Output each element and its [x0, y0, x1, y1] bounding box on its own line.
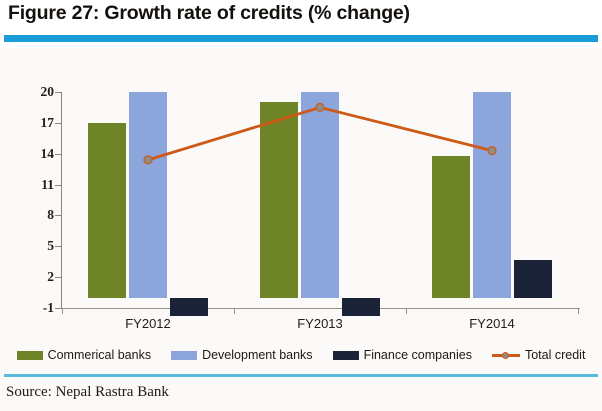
x-axis-tick-mark [234, 308, 235, 314]
legend-item-development-banks[interactable]: Development banks [171, 348, 312, 362]
legend-swatch-icon-development-banks [171, 351, 197, 360]
figure-title: Figure 27: Growth rate of credits (% cha… [8, 2, 410, 25]
x-axis-category-label: FY2013 [297, 316, 343, 331]
total-credit-marker-fy2014 [488, 147, 496, 155]
footer-divider [4, 374, 598, 377]
total-credit-marker-fy2012 [144, 156, 152, 164]
title-block: Figure 27: Growth rate of credits (% cha… [0, 0, 602, 48]
chart-legend: Commerical banks Development banks Finan… [0, 344, 602, 366]
x-axis-category-label: FY2014 [469, 316, 515, 331]
legend-swatch-icon-finance-companies [333, 351, 359, 360]
x-axis-category-label: FY2012 [125, 316, 171, 331]
x-axis-tick-mark [578, 308, 579, 314]
total-credit-line-series [0, 48, 602, 340]
total-credit-polyline [148, 107, 492, 159]
legend-label-development-banks: Development banks [202, 348, 312, 362]
legend-item-commercial-banks[interactable]: Commerical banks [17, 348, 152, 362]
chart-plot-area: 20171411852-1 FY2012FY2013FY2014 [0, 48, 602, 340]
source-note: Source: Nepal Rastra Bank [6, 384, 169, 401]
x-axis-tick-mark [406, 308, 407, 314]
total-credit-markers [144, 103, 496, 163]
title-divider [4, 35, 598, 42]
legend-label-total-credit: Total credit [525, 348, 585, 362]
legend-item-finance-companies[interactable]: Finance companies [333, 348, 472, 362]
total-credit-marker-fy2013 [316, 103, 324, 111]
legend-label-finance-companies: Finance companies [364, 348, 472, 362]
legend-item-total-credit[interactable]: Total credit [492, 348, 585, 362]
figure-panel: Figure 27: Growth rate of credits (% cha… [0, 0, 602, 411]
legend-line-marker-icon-total-credit [492, 351, 520, 360]
x-axis-tick-mark [62, 308, 63, 314]
legend-swatch-icon-commercial-banks [17, 351, 43, 360]
legend-label-commercial-banks: Commerical banks [48, 348, 152, 362]
